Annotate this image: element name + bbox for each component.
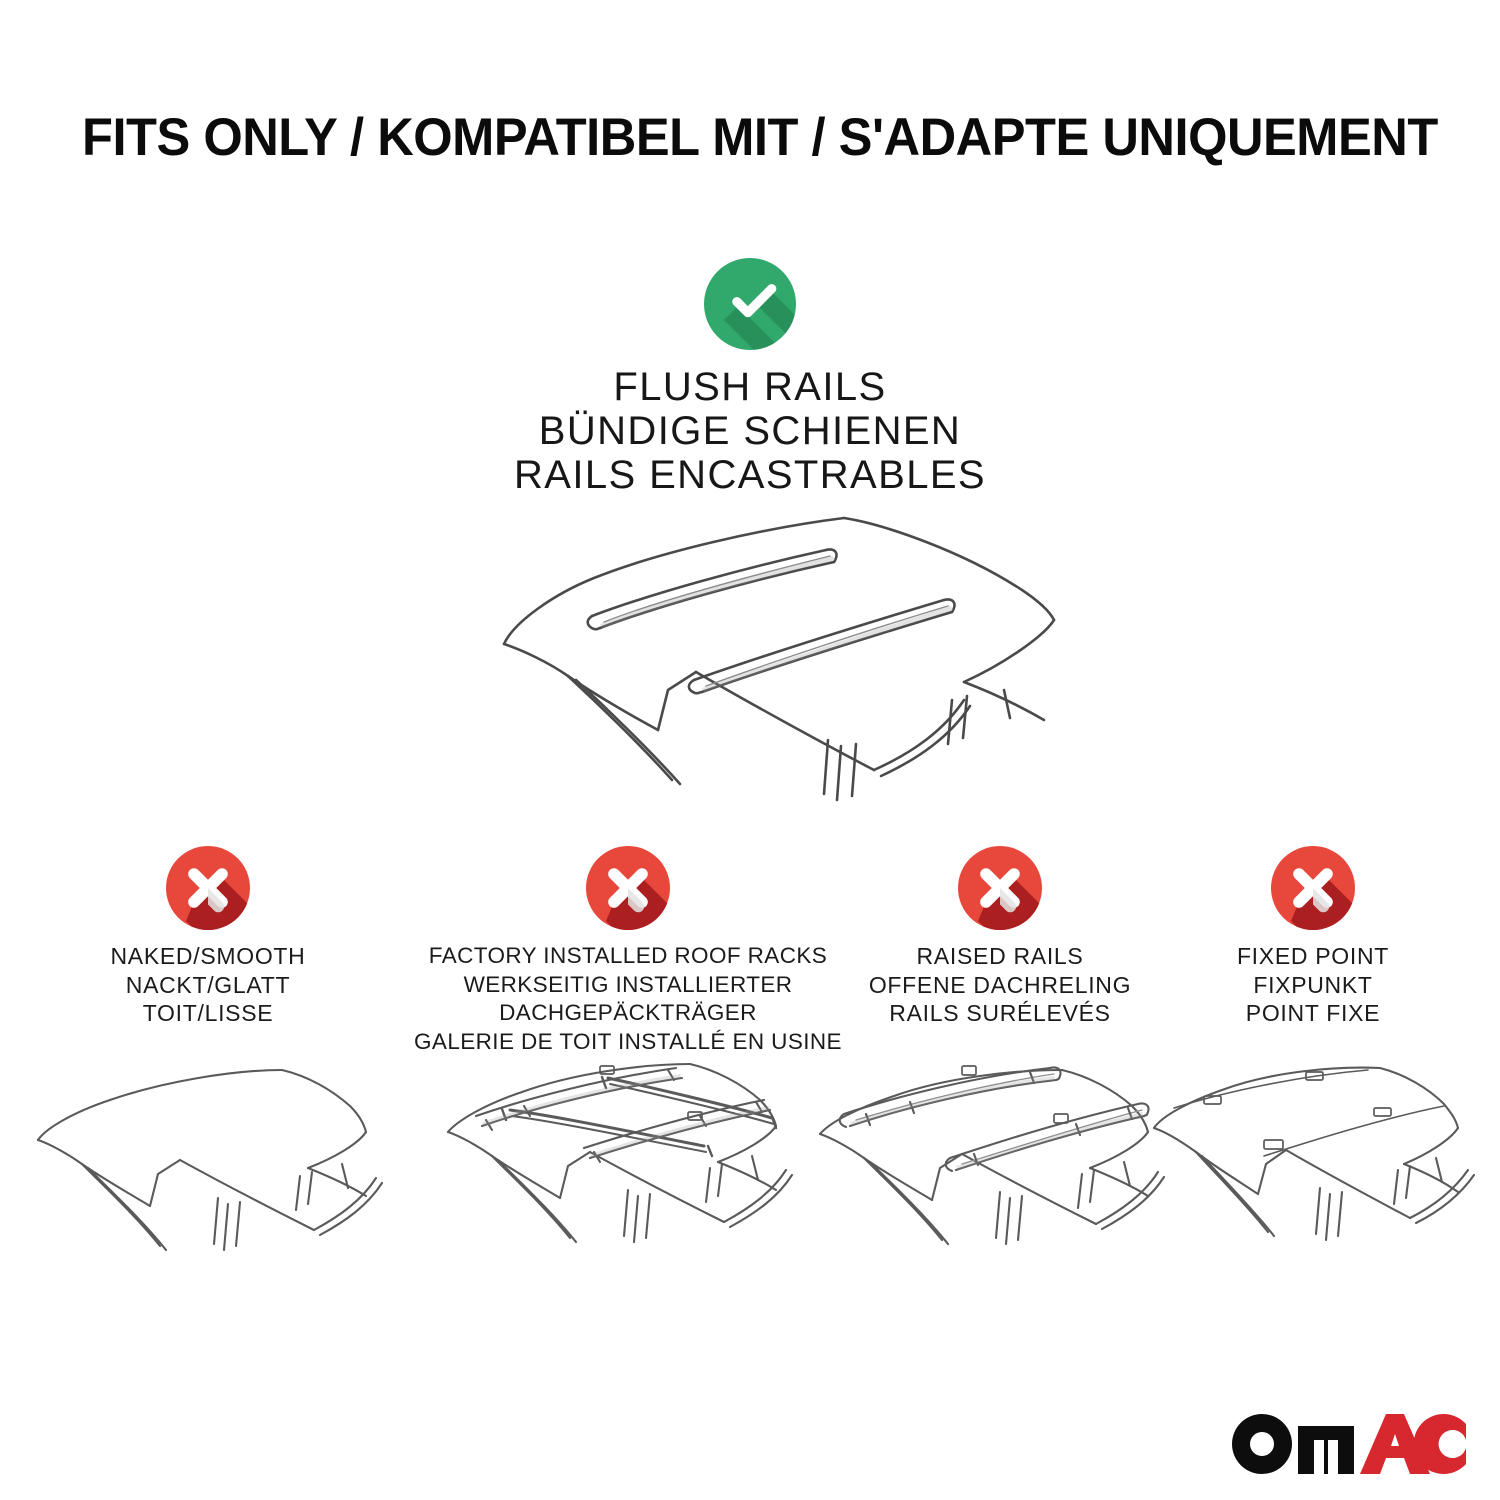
logo-letter-m	[1298, 1426, 1354, 1474]
label-line: NACKT/GLATT	[28, 971, 388, 1000]
page-title: FITS ONLY / KOMPATIBEL MIT / S'ADAPTE UN…	[82, 108, 1362, 168]
omac-logo	[1228, 1410, 1468, 1478]
incompatible-item-factory-racks: FACTORY INSTALLED ROOF RACKS WERKSEITIG …	[392, 840, 864, 1056]
incompatible-label: NAKED/SMOOTH NACKT/GLATT TOIT/LISSE	[28, 942, 388, 1028]
red-x-circle-icon	[166, 846, 250, 930]
car-roof-flush-rails-illustration	[444, 494, 1084, 814]
label-line: FIXPUNKT	[1168, 971, 1458, 1000]
incompatible-item-fixed-point: FIXED POINT FIXPUNKT POINT FIXE	[1168, 840, 1458, 1028]
incompatible-label: RAISED RAILS OFFENE DACHRELING RAILS SUR…	[846, 942, 1154, 1028]
incompatible-section: NAKED/SMOOTH NACKT/GLATT TOIT/LISSE	[0, 840, 1500, 1290]
red-x-circle-icon	[586, 846, 670, 930]
incompatible-item-naked-smooth: NAKED/SMOOTH NACKT/GLATT TOIT/LISSE	[28, 840, 388, 1028]
incompatible-item-raised-rails: RAISED RAILS OFFENE DACHRELING RAILS SUR…	[846, 840, 1154, 1028]
label-line: NAKED/SMOOTH	[28, 942, 388, 971]
label-line: WERKSEITIG INSTALLIERTER	[392, 971, 864, 1000]
compatible-label-line-1: FLUSH RAILS	[0, 365, 1500, 409]
label-line: TOIT/LISSE	[28, 999, 388, 1028]
incompatible-label: FIXED POINT FIXPUNKT POINT FIXE	[1168, 942, 1458, 1028]
incompatible-label: FACTORY INSTALLED ROOF RACKS WERKSEITIG …	[392, 942, 864, 1056]
label-line: RAISED RAILS	[846, 942, 1154, 971]
compatible-label: FLUSH RAILS BÜNDIGE SCHIENEN RAILS ENCAS…	[0, 365, 1500, 497]
red-x-circle-icon	[958, 846, 1042, 930]
car-roof-fixed-point-illustration	[1148, 1058, 1478, 1274]
label-line: DACHGEPÄCKTRÄGER	[392, 999, 864, 1028]
red-x-circle-icon	[1271, 846, 1355, 930]
label-line: FACTORY INSTALLED ROOF RACKS	[392, 942, 864, 971]
label-line: RAILS SURÉLEVÉS	[846, 999, 1154, 1028]
logo-letter-o	[1232, 1414, 1292, 1474]
label-line: GALERIE DE TOIT INSTALLÉ EN USINE	[392, 1028, 864, 1057]
compatible-section: FLUSH RAILS BÜNDIGE SCHIENEN RAILS ENCAS…	[0, 258, 1500, 497]
label-line: POINT FIXE	[1168, 999, 1458, 1028]
green-check-circle-icon	[704, 258, 796, 350]
car-roof-factory-racks-illustration	[442, 1054, 814, 1274]
car-roof-naked-smooth-illustration	[32, 1058, 384, 1274]
label-line: FIXED POINT	[1168, 942, 1458, 971]
car-roof-raised-rails-illustration	[814, 1058, 1186, 1276]
compatible-label-line-2: BÜNDIGE SCHIENEN	[0, 409, 1500, 453]
label-line: OFFENE DACHRELING	[846, 971, 1154, 1000]
compatible-label-line-3: RAILS ENCASTRABLES	[0, 453, 1500, 497]
